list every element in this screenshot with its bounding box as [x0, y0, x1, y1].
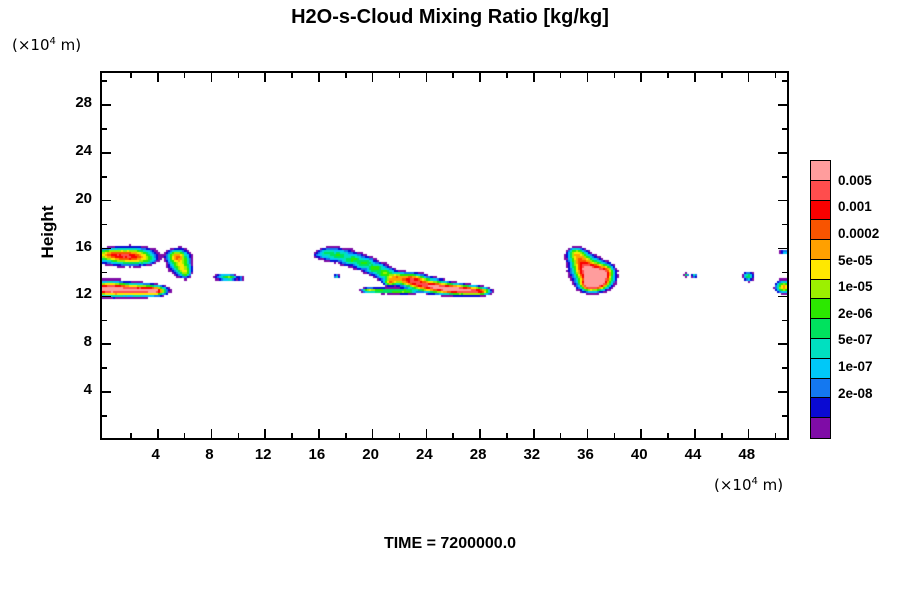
x-tick — [211, 429, 213, 438]
colorbar-label: 1e-07 — [838, 359, 873, 374]
colorbar-label: 5e-07 — [838, 332, 873, 347]
x-tick — [238, 433, 240, 438]
x-tick — [345, 433, 347, 438]
y-tick-label: 16 — [52, 238, 92, 255]
x-tick — [157, 429, 159, 438]
x-tick — [667, 433, 669, 438]
colorbar-band — [811, 299, 830, 319]
x-tick — [506, 433, 508, 438]
y-tick — [778, 152, 787, 154]
contour-canvas-wrap — [102, 73, 787, 438]
y-tick — [778, 343, 787, 345]
y-tick — [778, 296, 787, 298]
colorbar-band — [811, 359, 830, 379]
colorbar-band — [811, 161, 830, 181]
x-tick — [130, 433, 132, 438]
colorbar-label: 2e-08 — [838, 386, 873, 401]
x-tick — [238, 73, 240, 78]
colorbar-band — [811, 201, 830, 221]
y-tick-label: 4 — [52, 381, 92, 398]
colorbar-band — [811, 260, 830, 280]
x-axis-unit-label: (×104 m) — [714, 476, 783, 494]
y-tick-label: 28 — [52, 94, 92, 111]
x-tick — [640, 73, 642, 82]
x-tick — [533, 73, 535, 82]
colorbar-band — [811, 398, 830, 418]
y-tick — [102, 80, 107, 82]
y-tick — [102, 272, 107, 274]
colorbar-band — [811, 280, 830, 300]
y-tick — [102, 343, 111, 345]
x-tick — [426, 429, 428, 438]
x-tick — [264, 73, 266, 82]
y-tick-label: 12 — [52, 285, 92, 302]
x-tick — [748, 429, 750, 438]
y-tick-label: 20 — [52, 190, 92, 207]
x-tick — [614, 433, 616, 438]
y-tick — [102, 224, 107, 226]
x-tick — [721, 73, 723, 78]
y-tick — [782, 128, 787, 130]
x-tick — [479, 73, 481, 82]
x-unit-text: (×10 — [714, 476, 752, 494]
x-tick — [587, 429, 589, 438]
x-tick-label: 16 — [297, 446, 337, 463]
y-tick — [102, 296, 111, 298]
y-tick — [102, 367, 107, 369]
x-tick — [184, 433, 186, 438]
y-tick — [102, 391, 111, 393]
x-tick-label: 8 — [189, 446, 229, 463]
colorbar-label: 1e-05 — [838, 279, 873, 294]
x-tick — [721, 433, 723, 438]
x-tick — [372, 429, 374, 438]
x-tick — [452, 433, 454, 438]
plot-area — [100, 71, 789, 440]
colorbar-band — [811, 220, 830, 240]
x-tick — [694, 73, 696, 82]
x-tick — [775, 433, 777, 438]
x-tick — [345, 73, 347, 78]
y-unit-text: (×10 — [12, 36, 50, 54]
x-tick — [694, 429, 696, 438]
x-tick — [291, 433, 293, 438]
y-tick — [778, 391, 787, 393]
y-unit-tail: m) — [56, 36, 81, 54]
x-tick — [426, 73, 428, 82]
y-tick-label: 24 — [52, 142, 92, 159]
y-tick — [102, 248, 111, 250]
x-tick — [452, 73, 454, 78]
x-tick-label: 24 — [404, 446, 444, 463]
y-tick — [102, 128, 107, 130]
x-tick — [506, 73, 508, 78]
time-annotation: TIME = 7200000.0 — [0, 535, 900, 553]
x-tick-label: 4 — [136, 446, 176, 463]
colorbar-label: 0.0002 — [838, 226, 879, 241]
colorbar-band — [811, 181, 830, 201]
colorbar-band — [811, 418, 830, 438]
y-tick — [778, 104, 787, 106]
x-tick — [399, 433, 401, 438]
y-tick — [782, 367, 787, 369]
x-tick-label: 36 — [566, 446, 606, 463]
x-tick — [640, 429, 642, 438]
y-tick — [778, 200, 787, 202]
x-tick-label: 20 — [351, 446, 391, 463]
colorbar-band — [811, 379, 830, 399]
y-tick — [782, 320, 787, 322]
x-tick-label: 32 — [512, 446, 552, 463]
y-tick — [778, 248, 787, 250]
y-tick — [782, 80, 787, 82]
y-tick — [782, 272, 787, 274]
y-tick — [102, 320, 107, 322]
colorbar-label: 5e-05 — [838, 253, 873, 268]
x-tick — [130, 73, 132, 78]
x-tick — [667, 73, 669, 78]
y-tick — [782, 415, 787, 417]
y-tick — [782, 176, 787, 178]
y-tick — [102, 200, 111, 202]
x-tick — [560, 73, 562, 78]
x-tick-label: 48 — [727, 446, 767, 463]
y-tick-label: 8 — [52, 333, 92, 350]
colorbar-label: 0.005 — [838, 173, 872, 188]
x-unit-tail: m) — [758, 476, 783, 494]
x-tick — [614, 73, 616, 78]
x-tick-label: 28 — [458, 446, 498, 463]
x-tick — [587, 73, 589, 82]
figure-root: H2O-s-Cloud Mixing Ratio [kg/kg] (×104 m… — [0, 0, 900, 600]
colorbar-band — [811, 240, 830, 260]
x-tick — [318, 73, 320, 82]
colorbar — [810, 160, 831, 439]
x-tick-label: 12 — [243, 446, 283, 463]
x-tick — [775, 73, 777, 78]
x-tick — [748, 73, 750, 82]
y-tick — [102, 104, 111, 106]
page-title: H2O-s-Cloud Mixing Ratio [kg/kg] — [0, 6, 900, 29]
colorbar-label: 2e-06 — [838, 306, 873, 321]
x-tick-label: 40 — [619, 446, 659, 463]
colorbar-label: 0.001 — [838, 199, 872, 214]
y-tick — [102, 152, 111, 154]
x-tick — [157, 73, 159, 82]
y-axis-unit-label: (×104 m) — [12, 36, 81, 54]
x-tick — [399, 73, 401, 78]
y-tick — [102, 415, 107, 417]
x-tick — [264, 429, 266, 438]
x-tick — [533, 429, 535, 438]
x-tick — [291, 73, 293, 78]
x-tick — [211, 73, 213, 82]
x-tick — [372, 73, 374, 82]
contour-plot-canvas — [102, 73, 787, 438]
x-tick — [318, 429, 320, 438]
y-tick — [782, 224, 787, 226]
x-tick — [560, 433, 562, 438]
x-tick — [479, 429, 481, 438]
x-tick — [184, 73, 186, 78]
x-tick-label: 44 — [673, 446, 713, 463]
y-tick — [102, 176, 107, 178]
colorbar-band — [811, 339, 830, 359]
colorbar-band — [811, 319, 830, 339]
